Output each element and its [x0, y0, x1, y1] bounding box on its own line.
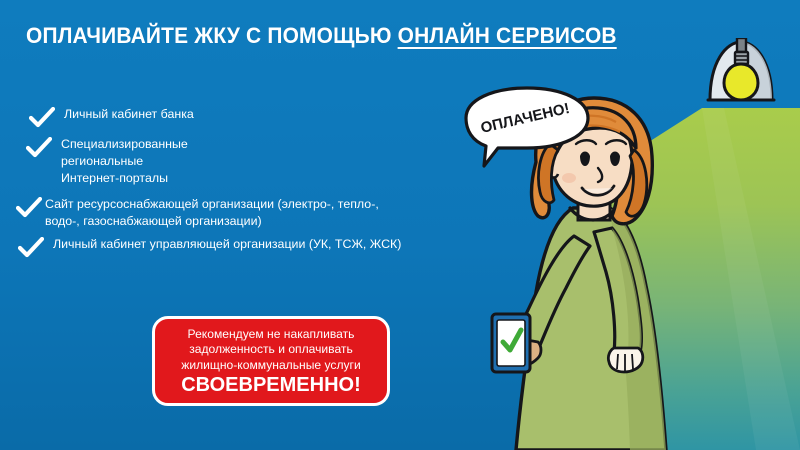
- check-icon: [29, 107, 55, 129]
- list-item-line: Личный кабинет управляющей организации (…: [53, 236, 401, 253]
- benefits-list: Личный кабинет банка Специализированные …: [16, 105, 462, 261]
- list-item: Специализированные региональные Интернет…: [26, 135, 462, 187]
- check-icon: [26, 137, 52, 159]
- check-icon: [18, 237, 44, 259]
- list-item-line: региональные: [61, 153, 188, 170]
- recommendation-notice: Рекомендуем не накапливать задолженность…: [152, 316, 390, 406]
- check-icon: [16, 197, 42, 219]
- hanging-lamp-icon: [700, 38, 782, 116]
- page-title-plain: ОПЛАЧИВАЙТЕ ЖКУ С ПОМОЩЬЮ: [26, 23, 398, 48]
- notice-line: задолженность и оплачивать: [189, 342, 353, 358]
- page-title: ОПЛАЧИВАЙТЕ ЖКУ С ПОМОЩЬЮ ОНЛАЙН СЕРВИСО…: [26, 23, 617, 49]
- list-item-line: Интернет-порталы: [61, 170, 188, 187]
- list-item-label: Личный кабинет банка: [58, 105, 194, 123]
- page-title-underlined: ОНЛАЙН СЕРВИСОВ: [398, 23, 617, 48]
- list-item: Личный кабинет управляющей организации (…: [18, 235, 462, 259]
- list-item-line: Личный кабинет банка: [64, 106, 194, 123]
- smartphone-in-hand: [492, 314, 530, 372]
- list-item-label: Сайт ресурсоснабжающей организации (элек…: [45, 195, 379, 230]
- list-item-label: Специализированные региональные Интернет…: [55, 135, 188, 187]
- list-item-line: водо-, газоснабжающей организации): [45, 213, 379, 230]
- list-item-line: Специализированные: [61, 136, 188, 153]
- list-item-label: Личный кабинет управляющей организации (…: [47, 235, 401, 253]
- list-item: Сайт ресурсоснабжающей организации (элек…: [16, 195, 462, 230]
- list-item-line: Сайт ресурсоснабжающей организации (элек…: [45, 196, 379, 213]
- speech-bubble: ОПЛАЧЕНО!: [462, 86, 592, 168]
- notice-emphasis: СВОЕВРЕМЕННО!: [181, 374, 361, 397]
- notice-line: Рекомендуем не накапливать: [188, 327, 355, 343]
- list-item: Личный кабинет банка: [29, 105, 462, 129]
- notice-line: жилищно-коммунальные услуги: [181, 358, 360, 374]
- infographic-poster: ОПЛАЧЕНО! ОПЛАЧИВАЙТЕ ЖКУ С ПОМОЩЬЮ ОНЛА…: [0, 0, 800, 450]
